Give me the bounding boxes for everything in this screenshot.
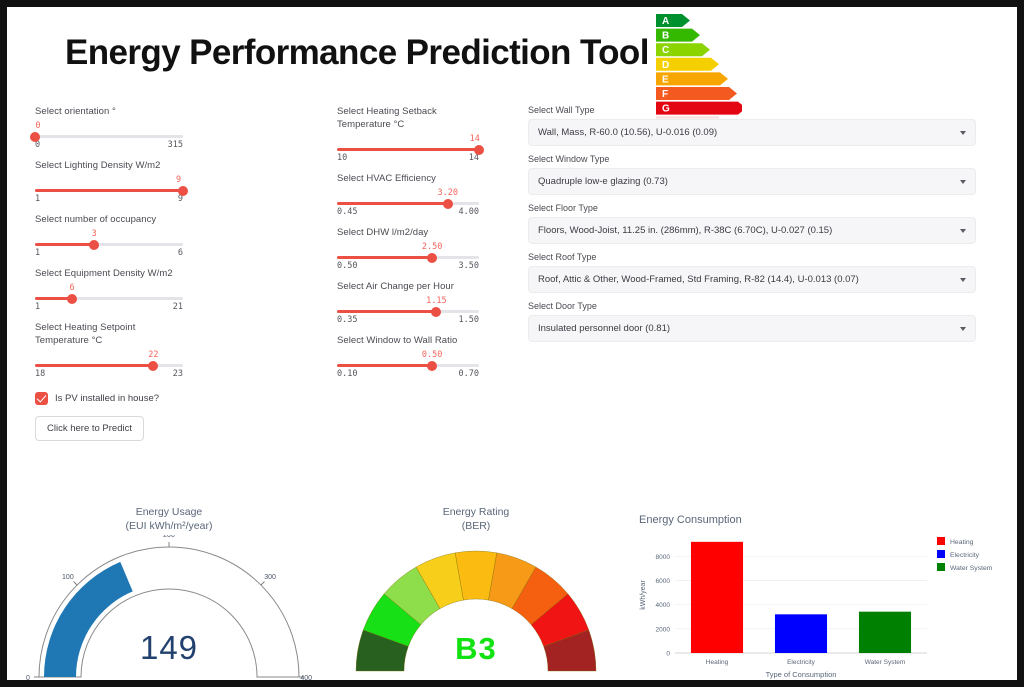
svg-text:F: F xyxy=(662,89,668,100)
svg-text:300: 300 xyxy=(264,574,276,581)
dropdown-value: Wall, Mass, R-60.0 (10.56), U-0.016 (0.0… xyxy=(538,127,717,138)
slider-max: 9 xyxy=(178,194,183,204)
svg-text:8000: 8000 xyxy=(656,554,671,561)
slider-handle[interactable] xyxy=(431,307,441,317)
slider-handle[interactable] xyxy=(443,199,453,209)
slider-min: 0.50 xyxy=(337,261,357,271)
slider-lighting-density[interactable]: Select Lighting Density W/m2919 xyxy=(35,159,183,204)
slider-range: 121 xyxy=(35,302,183,312)
slider-value-row: 6 xyxy=(35,283,183,294)
dropdown-label: Select Window Type xyxy=(528,154,976,164)
svg-text:A: A xyxy=(662,16,669,27)
dropdown-roof-type[interactable]: Roof, Attic & Other, Wood-Framed, Std Fr… xyxy=(528,266,976,293)
svg-text:Electricity: Electricity xyxy=(787,659,816,666)
slider-handle[interactable] xyxy=(474,145,484,155)
slider-track[interactable] xyxy=(337,148,479,151)
slider-value: 9 xyxy=(176,175,181,185)
dropdown-value: Floors, Wood-Joist, 11.25 in. (286mm), R… xyxy=(538,225,832,236)
slider-value-row: 0.50 xyxy=(337,350,479,361)
slider-equipment-density[interactable]: Select Equipment Density W/m26121 xyxy=(35,267,183,312)
slider-fill xyxy=(35,364,153,367)
dropdown-value: Insulated personnel door (0.81) xyxy=(538,323,670,334)
chevron-down-icon[interactable] xyxy=(960,229,966,233)
slider-range: 1014 xyxy=(337,153,479,163)
results-area: Energy Usage (EUI kWh/m²/year) 010020030… xyxy=(7,501,1017,687)
slider-label: Select Equipment Density W/m2 xyxy=(35,267,183,280)
energy-rating-value: B3 xyxy=(333,631,619,667)
slider-min: 0.10 xyxy=(337,369,357,379)
slider-range: 0.351.50 xyxy=(337,315,479,325)
slider-heating-setback[interactable]: Select Heating Setback Temperature °C141… xyxy=(337,105,479,163)
slider-max: 3.50 xyxy=(459,261,479,271)
slider-hvac-efficiency[interactable]: Select HVAC Efficiency3.200.454.00 xyxy=(337,172,479,217)
svg-text:2000: 2000 xyxy=(656,626,671,633)
slider-handle[interactable] xyxy=(178,186,188,196)
slider-track[interactable] xyxy=(337,202,479,205)
slider-label: Select number of occupancy xyxy=(35,213,183,226)
svg-text:C: C xyxy=(662,45,669,56)
slider-max: 315 xyxy=(168,140,183,150)
header: Energy Performance Prediction Tool ABCDE… xyxy=(7,7,1017,105)
chevron-down-icon[interactable] xyxy=(960,278,966,282)
svg-text:Type of Consumption: Type of Consumption xyxy=(766,670,837,679)
dropdown-label: Select Door Type xyxy=(528,301,976,311)
slider-min: 1 xyxy=(35,194,40,204)
slider-track[interactable] xyxy=(35,297,183,300)
slider-range: 0.100.70 xyxy=(337,369,479,379)
slider-label: Select Window to Wall Ratio xyxy=(337,334,479,347)
svg-text:0: 0 xyxy=(26,675,30,682)
slider-window-wall-ratio[interactable]: Select Window to Wall Ratio0.500.100.70 xyxy=(337,334,479,379)
pv-checkbox[interactable] xyxy=(35,392,48,405)
slider-label: Select Air Change per Hour xyxy=(337,280,479,293)
svg-text:kWh/year: kWh/year xyxy=(640,580,647,610)
slider-range: 16 xyxy=(35,248,183,258)
energy-usage-value: 149 xyxy=(21,629,317,667)
svg-text:D: D xyxy=(662,60,669,71)
energy-usage-gauge: 0100200300400 149 xyxy=(21,533,317,687)
slider-value-row: 3.20 xyxy=(337,188,479,199)
slider-value: 3.20 xyxy=(438,188,458,198)
dropdown-label: Select Floor Type xyxy=(528,203,976,213)
slider-range: 0.454.00 xyxy=(337,207,479,217)
slider-max: 23 xyxy=(173,369,183,379)
svg-text:6000: 6000 xyxy=(656,578,671,585)
svg-text:400: 400 xyxy=(300,675,312,682)
slider-track[interactable] xyxy=(337,310,479,313)
svg-text:B: B xyxy=(662,31,669,42)
slider-min: 0.45 xyxy=(337,207,357,217)
slider-dhw[interactable]: Select DHW l/m2/day2.500.503.50 xyxy=(337,226,479,271)
slider-air-change[interactable]: Select Air Change per Hour1.150.351.50 xyxy=(337,280,479,325)
dropdown-group-wall-type: Select Wall TypeWall, Mass, R-60.0 (10.5… xyxy=(528,105,976,146)
dropdown-floor-type[interactable]: Floors, Wood-Joist, 11.25 in. (286mm), R… xyxy=(528,217,976,244)
slider-range: 0315 xyxy=(35,140,183,150)
dropdown-door-type[interactable]: Insulated personnel door (0.81) xyxy=(528,315,976,342)
slider-value: 1.15 xyxy=(426,296,446,306)
slider-value-row: 1.15 xyxy=(337,296,479,307)
slider-label: Select HVAC Efficiency xyxy=(337,172,479,185)
energy-rating-gauge: B3 xyxy=(333,533,619,687)
svg-text:0: 0 xyxy=(666,651,670,658)
slider-value-row: 22 xyxy=(35,350,183,361)
slider-handle[interactable] xyxy=(427,361,437,371)
svg-text:Energy Consumption: Energy Consumption xyxy=(639,514,742,526)
slider-fill xyxy=(337,256,432,259)
slider-value: 0 xyxy=(35,121,40,131)
energy-consumption-panel: Energy Consumption02000400060008000Heati… xyxy=(627,501,1019,687)
slider-label: Select DHW l/m2/day xyxy=(337,226,479,239)
slider-fill xyxy=(337,202,448,205)
dropdowns-column: Select Wall TypeWall, Mass, R-60.0 (10.5… xyxy=(528,105,976,350)
dropdown-group-floor-type: Select Floor TypeFloors, Wood-Joist, 11.… xyxy=(528,203,976,244)
slider-handle[interactable] xyxy=(30,132,40,142)
slider-label: Select Lighting Density W/m2 xyxy=(35,159,183,172)
slider-max: 1.50 xyxy=(459,315,479,325)
slider-track[interactable] xyxy=(337,364,479,367)
chevron-down-icon[interactable] xyxy=(960,180,966,184)
slider-value: 0.50 xyxy=(422,350,442,360)
page-title: Energy Performance Prediction Tool xyxy=(65,33,649,73)
slider-track[interactable] xyxy=(35,243,183,246)
svg-text:Water System: Water System xyxy=(950,565,993,572)
slider-min: 1 xyxy=(35,248,40,258)
energy-rating-panel: Energy Rating (BER) B3 xyxy=(333,501,619,687)
slider-track[interactable] xyxy=(35,135,183,138)
slider-min: 0 xyxy=(35,140,40,150)
slider-fill xyxy=(337,364,432,367)
slider-range: 0.503.50 xyxy=(337,261,479,271)
slider-range: 19 xyxy=(35,194,183,204)
slider-fill xyxy=(35,243,94,246)
svg-text:E: E xyxy=(662,74,669,85)
slider-max: 0.70 xyxy=(459,369,479,379)
slider-label: Select orientation ° xyxy=(35,105,183,118)
svg-text:Electricity: Electricity xyxy=(950,552,980,559)
slider-value: 2.50 xyxy=(422,242,442,252)
dropdown-value: Quadruple low-e glazing (0.73) xyxy=(538,176,668,187)
energy-consumption-chart: Energy Consumption02000400060008000Heati… xyxy=(627,501,1019,687)
dropdown-group-roof-type: Select Roof TypeRoof, Attic & Other, Woo… xyxy=(528,252,976,293)
slider-handle[interactable] xyxy=(67,294,77,304)
energy-usage-panel: Energy Usage (EUI kWh/m²/year) 010020030… xyxy=(21,501,317,687)
slider-value-row: 0 xyxy=(35,121,183,132)
slider-range: 1823 xyxy=(35,369,183,379)
slider-track[interactable] xyxy=(337,256,479,259)
slider-min: 18 xyxy=(35,369,45,379)
sliders-column-middle: Select Heating Setback Temperature °C141… xyxy=(337,105,479,388)
dropdown-value: Roof, Attic & Other, Wood-Framed, Std Fr… xyxy=(538,274,859,285)
slider-value-row: 3 xyxy=(35,229,183,240)
svg-text:Heating: Heating xyxy=(950,539,974,546)
slider-handle[interactable] xyxy=(89,240,99,250)
svg-text:100: 100 xyxy=(62,574,74,581)
slider-min: 0.35 xyxy=(337,315,357,325)
slider-max: 14 xyxy=(469,153,479,163)
dropdown-window-type[interactable]: Quadruple low-e glazing (0.73) xyxy=(528,168,976,195)
svg-text:4000: 4000 xyxy=(656,602,671,609)
slider-label: Select Heating Setpoint Temperature °C xyxy=(35,321,183,347)
slider-value: 3 xyxy=(92,229,97,239)
slider-value-row: 9 xyxy=(35,175,183,186)
app-window: Energy Performance Prediction Tool ABCDE… xyxy=(0,0,1024,687)
slider-max: 4.00 xyxy=(459,207,479,217)
slider-handle[interactable] xyxy=(427,253,437,263)
slider-label: Select Heating Setback Temperature °C xyxy=(337,105,479,131)
sliders-column-left: Select orientation °00315Select Lighting… xyxy=(35,105,183,441)
chevron-down-icon[interactable] xyxy=(960,327,966,331)
slider-occupancy[interactable]: Select number of occupancy316 xyxy=(35,213,183,258)
slider-track[interactable] xyxy=(35,189,183,192)
slider-handle[interactable] xyxy=(148,361,158,371)
dropdown-label: Select Roof Type xyxy=(528,252,976,262)
chevron-down-icon[interactable] xyxy=(960,131,966,135)
pv-checkbox-label: Is PV installed in house? xyxy=(55,393,159,404)
svg-text:200: 200 xyxy=(163,535,175,539)
page-root: Energy Performance Prediction Tool ABCDE… xyxy=(7,7,1017,680)
slider-value: 14 xyxy=(470,134,480,144)
slider-min: 10 xyxy=(337,153,347,163)
dropdown-label: Select Wall Type xyxy=(528,105,976,115)
dropdown-group-window-type: Select Window TypeQuadruple low-e glazin… xyxy=(528,154,976,195)
slider-max: 21 xyxy=(173,302,183,312)
slider-value-row: 14 xyxy=(337,134,479,145)
slider-value: 6 xyxy=(69,283,74,293)
slider-orientation[interactable]: Select orientation °00315 xyxy=(35,105,183,150)
slider-fill xyxy=(337,310,436,313)
slider-fill xyxy=(337,148,479,151)
predict-button[interactable]: Click here to Predict xyxy=(35,416,144,441)
dropdown-group-door-type: Select Door TypeInsulated personnel door… xyxy=(528,301,976,342)
slider-fill xyxy=(35,189,183,192)
slider-heating-setpoint[interactable]: Select Heating Setpoint Temperature °C22… xyxy=(35,321,183,379)
pv-checkbox-row[interactable]: Is PV installed in house? xyxy=(35,392,183,405)
energy-usage-title: Energy Usage (EUI kWh/m²/year) xyxy=(21,501,317,533)
svg-text:Heating: Heating xyxy=(706,659,729,666)
svg-text:Water System: Water System xyxy=(865,659,906,666)
slider-min: 1 xyxy=(35,302,40,312)
slider-max: 6 xyxy=(178,248,183,258)
slider-value: 22 xyxy=(148,350,158,360)
slider-track[interactable] xyxy=(35,364,183,367)
dropdown-wall-type[interactable]: Wall, Mass, R-60.0 (10.56), U-0.016 (0.0… xyxy=(528,119,976,146)
energy-rating-title: Energy Rating (BER) xyxy=(333,501,619,533)
slider-value-row: 2.50 xyxy=(337,242,479,253)
